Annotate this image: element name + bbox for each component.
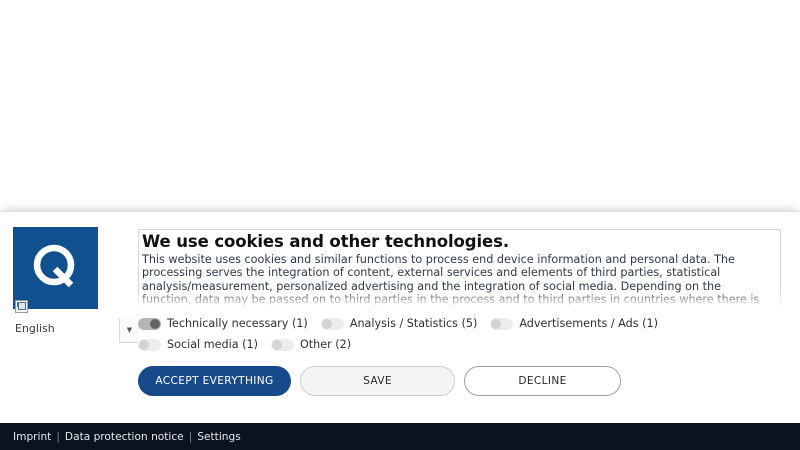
toggle-switch-off-icon[interactable] xyxy=(271,339,294,351)
consent-toggle-social-media[interactable]: Social media (1) xyxy=(138,337,258,352)
broken-image-icon xyxy=(15,300,28,313)
toggle-knob xyxy=(272,340,282,350)
consent-toggle-other[interactable]: Other (2) xyxy=(271,337,351,352)
save-button[interactable]: SAVE xyxy=(300,366,455,396)
consent-toggle-label: Analysis / Statistics (5) xyxy=(350,317,478,330)
banner-footer: Imprint | Data protection notice | Setti… xyxy=(0,423,800,450)
toggle-knob xyxy=(139,340,149,350)
language-selected-label: English xyxy=(15,319,55,338)
toggle-switch-off-icon[interactable] xyxy=(490,318,513,330)
footer-link-data-protection-notice[interactable]: Data protection notice xyxy=(65,431,184,443)
footer-link-imprint[interactable]: Imprint xyxy=(13,431,51,443)
banner-content: We use cookies and other technologies. T… xyxy=(138,212,800,396)
toggle-switch-off-icon[interactable] xyxy=(138,339,161,351)
chevron-down-icon[interactable]: ▼ xyxy=(119,318,138,343)
footer-link-settings[interactable]: Settings xyxy=(197,431,240,443)
decline-button[interactable]: DECLINE xyxy=(464,366,621,396)
toggle-knob xyxy=(491,319,501,329)
brand-logo xyxy=(13,227,98,309)
banner-heading: We use cookies and other technologies. xyxy=(142,232,772,251)
banner-description: This website uses cookies and similar fu… xyxy=(142,253,772,307)
footer-separator: | xyxy=(56,431,60,443)
consent-toggle-label: Technically necessary (1) xyxy=(167,317,308,330)
toggle-switch-on-icon[interactable] xyxy=(138,318,161,330)
consent-toggle-technically-necessary[interactable]: Technically necessary (1) xyxy=(138,316,308,331)
consent-toggle-analysis-statistics[interactable]: Analysis / Statistics (5) xyxy=(321,316,478,331)
banner-action-buttons: ACCEPT EVERYTHING SAVE DECLINE xyxy=(138,366,781,396)
consent-toggle-advertisements-ads[interactable]: Advertisements / Ads (1) xyxy=(490,316,658,331)
consent-toggle-label: Advertisements / Ads (1) xyxy=(519,317,658,330)
cookie-consent-banner: English ▼ We use cookies and other techn… xyxy=(0,211,800,423)
banner-text-scrollbox[interactable]: We use cookies and other technologies. T… xyxy=(138,229,781,307)
language-selector[interactable]: English ▼ xyxy=(0,300,138,338)
toggle-knob xyxy=(150,319,160,329)
brand-column: English ▼ xyxy=(0,212,138,424)
consent-toggle-label: Other (2) xyxy=(300,338,351,351)
footer-separator: | xyxy=(189,431,193,443)
toggle-knob xyxy=(322,319,332,329)
consent-toggle-group: Technically necessary (1) Analysis / Sta… xyxy=(138,316,738,358)
logo-q-glyph xyxy=(30,242,82,294)
consent-toggle-label: Social media (1) xyxy=(167,338,258,351)
toggle-switch-off-icon[interactable] xyxy=(321,318,344,330)
accept-everything-button[interactable]: ACCEPT EVERYTHING xyxy=(138,366,291,396)
chevron-down-glyph: ▼ xyxy=(127,327,131,334)
